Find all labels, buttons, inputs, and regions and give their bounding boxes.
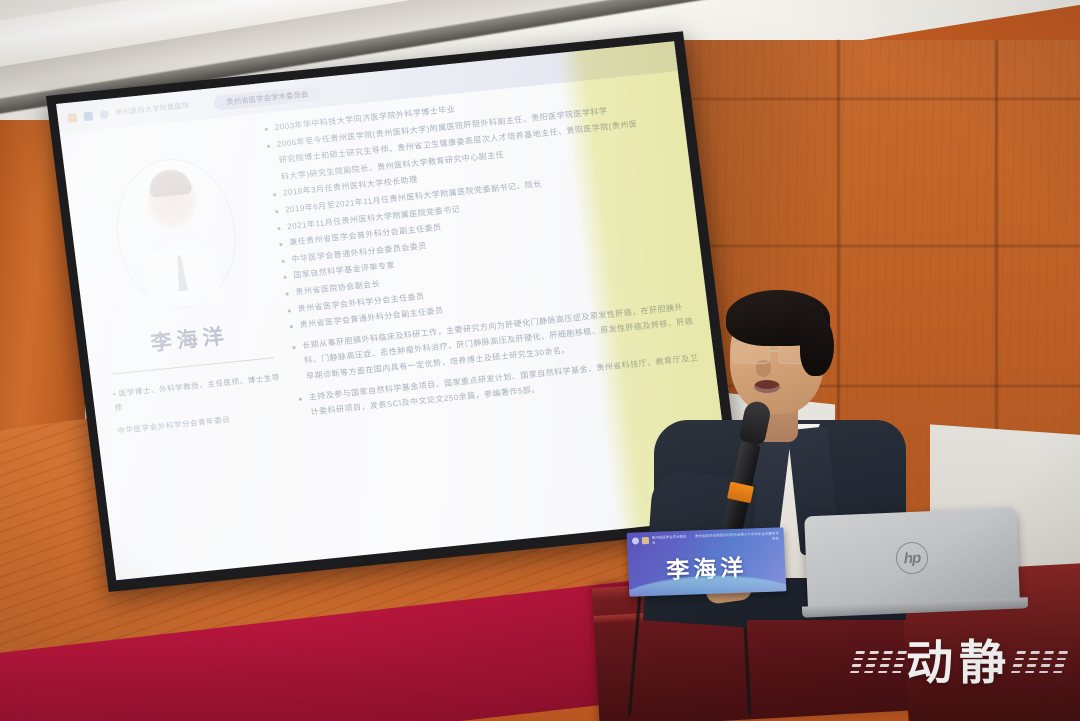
bullet-dot-icon	[265, 128, 268, 131]
projector-screen-icon: 贵州医科大学附属医院 贵州省医学会学术委员会 李海洋 • 医学博士、外科学教授、…	[46, 31, 746, 592]
bullet-dot-icon	[275, 210, 278, 213]
slide-logo-icon-3	[99, 109, 109, 119]
bullet-dot-icon	[299, 397, 302, 400]
slide-logo-icon-2	[83, 111, 93, 121]
hp-logo-icon: hp	[895, 541, 928, 574]
slide-title-pill: 贵州省医学会学术委员会	[213, 85, 321, 111]
laptop-lid: hp	[804, 508, 1020, 609]
bullet-dot-icon	[283, 276, 286, 279]
slide-org-text: 贵州医科大学附属医院	[115, 101, 190, 118]
speaker-mouth	[754, 380, 780, 393]
slide-credentials: • 医学博士、外科学教授、主任医师、博士生导师 中华医学会外科学分会青年委员	[108, 371, 288, 439]
bullet-dot-icon	[267, 144, 270, 147]
bullet-dot-icon	[279, 243, 282, 246]
name-card-logo-icon-1	[632, 537, 639, 544]
bullet-dot-icon	[281, 259, 284, 262]
name-card-logo-icon-2	[642, 537, 649, 544]
laptop-icon: hp	[804, 508, 1020, 609]
bullet-dot-icon	[273, 194, 276, 197]
bullet-dot-icon	[288, 309, 291, 312]
glasses-bridge	[770, 350, 778, 352]
bullet-dot-icon	[292, 346, 295, 349]
name-card-org-left: 贵州省医学会学术委员会	[652, 535, 689, 545]
presentation-slide: 贵州医科大学附属医院 贵州省医学会学术委员会 李海洋 • 医学博士、外科学教授、…	[56, 41, 734, 580]
speaker-portrait-photo	[108, 153, 244, 314]
presentation-room-photo: 贵州医科大学附属医院 贵州省医学会学术委员会 李海洋 • 医学博士、外科学教授、…	[0, 0, 1080, 721]
slide-logo-icon-1	[67, 113, 77, 123]
portrait-hair	[147, 168, 192, 198]
bullet-dot-icon	[290, 325, 293, 328]
bullet-dot-icon	[277, 227, 280, 230]
slide-speaker-name: 李海洋	[101, 315, 278, 362]
speaker-hair-side	[800, 314, 834, 376]
speaker-name-card: 贵州省医学会学术委员会 贵州省医学会肝胆外科学分会第十六次学术会议暨学术年会 李…	[627, 527, 787, 596]
slide-divider	[112, 357, 273, 374]
bullet-dot-icon	[286, 292, 289, 295]
